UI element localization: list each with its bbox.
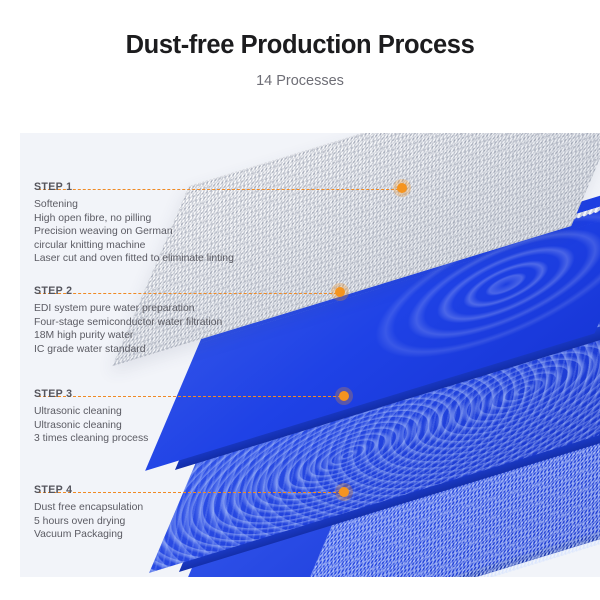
step-line: Dust free encapsulation	[34, 501, 354, 515]
step-marker-dot-1[interactable]	[397, 183, 407, 193]
step-line: Ultrasonic cleaning	[34, 405, 354, 419]
step-label-1: STEP 1	[34, 181, 72, 195]
step-lines-3: Ultrasonic cleaning Ultrasonic cleaning …	[34, 405, 354, 446]
step-label-2: STEP 2	[34, 285, 72, 299]
step-line: 5 hours oven drying	[34, 515, 354, 529]
step-marker-dot-4[interactable]	[339, 487, 349, 497]
step-line: Four-stage semiconductor water filtratio…	[34, 316, 354, 330]
step-line: Ultrasonic cleaning	[34, 419, 354, 433]
step-lines-1: Softening High open fibre, no pilling Pr…	[34, 198, 354, 266]
step-line: IC grade water standard	[34, 343, 354, 357]
step-label-3: STEP 3	[34, 388, 72, 402]
step-line: Precision weaving on German	[34, 225, 354, 239]
process-diagram-panel: STEP 1 Softening High open fibre, no pil…	[20, 133, 600, 577]
step-line: High open fibre, no pilling	[34, 212, 354, 226]
step-line: 18M high purity water	[34, 329, 354, 343]
step-block-4: STEP 4 Dust free encapsulation 5 hours o…	[34, 480, 354, 542]
step-label-4: STEP 4	[34, 484, 72, 498]
page-header: Dust-free Production Process 14 Processe…	[0, 0, 600, 89]
step-line: EDI system pure water preparation	[34, 302, 354, 316]
step-block-2: STEP 2 EDI system pure water preparation…	[34, 281, 354, 356]
page-subtitle: 14 Processes	[0, 73, 600, 89]
step-line: Laser cut and oven fitted to eliminate l…	[34, 252, 354, 266]
step-line: Softening	[34, 198, 354, 212]
step-marker-dot-2[interactable]	[335, 287, 345, 297]
step-line: circular knitting machine	[34, 239, 354, 253]
page-title: Dust-free Production Process	[0, 30, 600, 61]
step-lines-4: Dust free encapsulation 5 hours oven dry…	[34, 501, 354, 542]
step-block-3: STEP 3 Ultrasonic cleaning Ultrasonic cl…	[34, 384, 354, 446]
step-block-1: STEP 1 Softening High open fibre, no pil…	[34, 177, 354, 266]
step-line: 3 times cleaning process	[34, 432, 354, 446]
step-marker-dot-3[interactable]	[339, 391, 349, 401]
step-lines-2: EDI system pure water preparation Four-s…	[34, 302, 354, 356]
step-line: Vacuum Packaging	[34, 528, 354, 542]
